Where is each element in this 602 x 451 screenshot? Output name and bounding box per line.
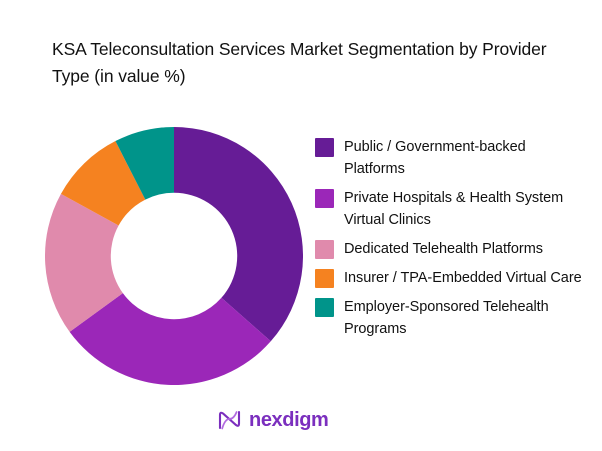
- legend-item: Employer-Sponsored Telehealth Programs: [315, 296, 587, 340]
- legend-swatch-icon: [315, 189, 334, 208]
- legend-item-label: Private Hospitals & Health System Virtua…: [344, 187, 587, 231]
- legend-item: Public / Government-backed Platforms: [315, 136, 587, 180]
- nexdigm-n-mark-icon: [216, 407, 242, 433]
- legend-item: Insurer / TPA-Embedded Virtual Care: [315, 267, 587, 289]
- legend-item-label: Public / Government-backed Platforms: [344, 136, 587, 180]
- legend-item-label: Employer-Sponsored Telehealth Programs: [344, 296, 587, 340]
- legend-swatch-icon: [315, 269, 334, 288]
- page-title: KSA Teleconsultation Services Market Seg…: [52, 36, 582, 90]
- legend-swatch-icon: [315, 138, 334, 157]
- chart-title-line-1: KSA Teleconsultation Services Market Seg…: [52, 39, 477, 59]
- donut-slice: [174, 127, 303, 341]
- legend-item-label: Dedicated Telehealth Platforms: [344, 238, 543, 260]
- nexdigm-logo-text: nexdigm: [249, 409, 328, 432]
- legend-item-label: Insurer / TPA-Embedded Virtual Care: [344, 267, 582, 289]
- nexdigm-logo: nexdigm: [216, 407, 328, 433]
- donut-slice-group: [45, 127, 303, 385]
- legend-swatch-icon: [315, 240, 334, 259]
- legend-item: Dedicated Telehealth Platforms: [315, 238, 587, 260]
- chart-legend: Public / Government-backed PlatformsPriv…: [315, 136, 587, 347]
- legend-swatch-icon: [315, 298, 334, 317]
- chart-page: KSA Teleconsultation Services Market Seg…: [0, 0, 602, 451]
- donut-chart-svg: [45, 127, 303, 385]
- donut-chart: [45, 127, 303, 385]
- legend-item: Private Hospitals & Health System Virtua…: [315, 187, 587, 231]
